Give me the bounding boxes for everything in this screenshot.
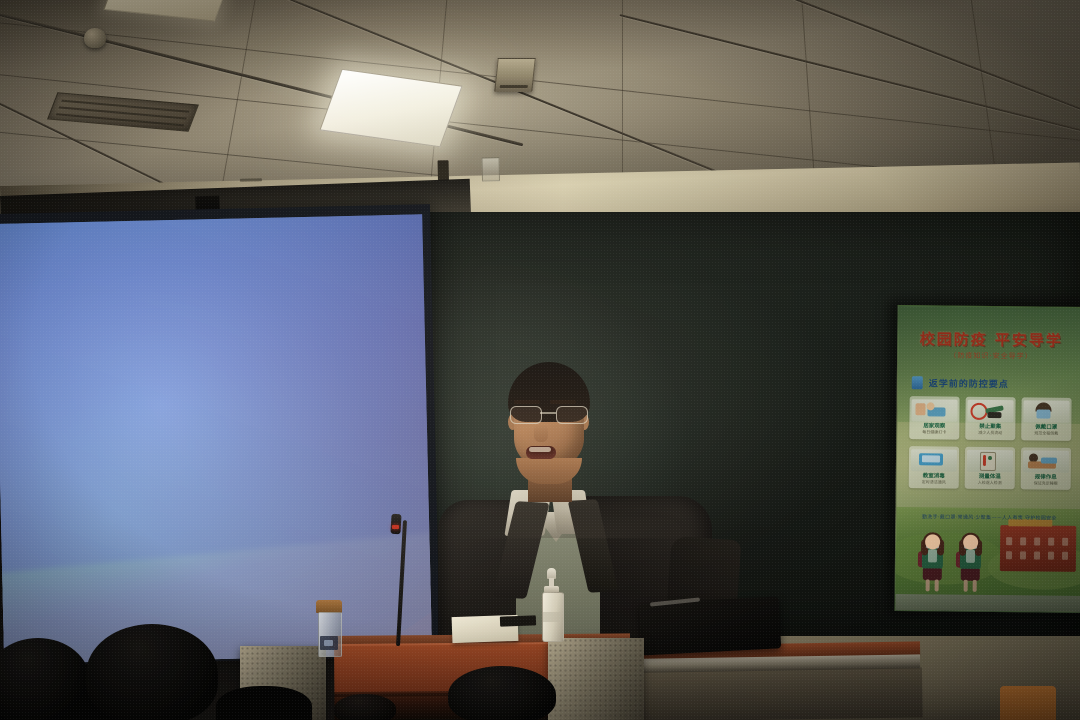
ceiling-speaker-box bbox=[494, 58, 536, 92]
paper-stack-shadow bbox=[500, 615, 536, 626]
campus-safety-poster[interactable]: 校园防疫 平安导学 （防疫知识·安全导学） 返学前的防控要点 居家观察 每日健康… bbox=[894, 305, 1080, 613]
poster-card-desc: 减少人员流动 bbox=[967, 431, 1013, 436]
projection-screen-frame bbox=[0, 204, 440, 666]
microphone-indicator-light bbox=[392, 525, 399, 529]
poster-card: 禁止聚集 减少人员流动 bbox=[965, 397, 1015, 440]
poster-card-desc: 保证充足睡眠 bbox=[1023, 481, 1069, 486]
chair-back bbox=[1000, 686, 1056, 720]
eyebrow-right bbox=[550, 400, 576, 404]
long-desk-underside bbox=[630, 667, 923, 720]
poster-card-desc: 定时清洁通风 bbox=[911, 480, 957, 485]
nose bbox=[534, 424, 548, 442]
poster-card-grid: 居家观察 每日健康打卡 禁止聚集 减少人员流动 佩戴口罩 规范全程佩戴 bbox=[909, 396, 1072, 490]
poster-card: 居家观察 每日健康打卡 bbox=[909, 396, 959, 439]
home-observation-icon bbox=[911, 399, 957, 421]
poster-subtitle: （防疫知识·安全导学） bbox=[898, 350, 1080, 362]
regular-rest-icon bbox=[1023, 450, 1069, 472]
audience-shoulders bbox=[216, 686, 312, 720]
poster-title: 校园防疫 平安导学 bbox=[898, 328, 1080, 351]
poster-card-desc: 每日健康打卡 bbox=[911, 430, 957, 435]
thermos-body bbox=[318, 612, 342, 657]
shelf-object bbox=[240, 178, 262, 181]
shield-icon bbox=[912, 376, 923, 389]
audience-head bbox=[86, 624, 218, 720]
microphone-head bbox=[390, 514, 401, 535]
no-gathering-icon bbox=[967, 400, 1013, 422]
projection-screen[interactable] bbox=[0, 214, 432, 664]
audience-head bbox=[334, 694, 396, 720]
thermos-bottle[interactable] bbox=[316, 600, 342, 655]
glasses-icon bbox=[510, 406, 590, 423]
poster-card: 规律作息 保证充足睡眠 bbox=[1021, 447, 1071, 490]
poster-student-figure bbox=[956, 535, 987, 593]
poster-section-heading: 返学前的防控要点 bbox=[912, 374, 1072, 392]
speaker-box-right bbox=[548, 638, 644, 720]
poster-school-building bbox=[1000, 525, 1076, 572]
temperature-check-icon bbox=[967, 449, 1013, 471]
shelf-object bbox=[438, 160, 449, 180]
poster-card: 教室消毒 定时清洁通风 bbox=[909, 446, 959, 489]
poster-card: 测量体温 入校逐人检测 bbox=[965, 446, 1015, 489]
screen-vignette bbox=[0, 214, 432, 664]
wear-mask-icon bbox=[1023, 400, 1069, 422]
hand-sanitizer-bottle[interactable] bbox=[540, 568, 564, 640]
poster-card-desc: 入校逐人检测 bbox=[967, 480, 1013, 485]
eyebrow-left bbox=[514, 400, 540, 404]
shelf-glass-object bbox=[481, 157, 500, 181]
poster-path bbox=[895, 594, 1080, 612]
chin bbox=[516, 458, 582, 484]
teeth bbox=[529, 447, 551, 452]
smoke-detector-dome bbox=[84, 28, 106, 48]
thermos-label bbox=[320, 636, 338, 650]
poster-section-label: 返学前的防控要点 bbox=[929, 376, 1009, 390]
sanitizer-label-band bbox=[543, 612, 561, 622]
shoulder-highlight bbox=[436, 498, 716, 538]
lecture-hall-photo: 校园防疫 平安导学 （防疫知识·安全导学） 返学前的防控要点 居家观察 每日健康… bbox=[0, 0, 1080, 720]
poster-card-desc: 规范全程佩戴 bbox=[1023, 431, 1069, 436]
poster-student-figure bbox=[918, 534, 949, 592]
classroom-disinfect-icon bbox=[911, 449, 957, 471]
audience-head bbox=[448, 666, 556, 720]
poster-card: 佩戴口罩 规范全程佩戴 bbox=[1021, 397, 1071, 440]
